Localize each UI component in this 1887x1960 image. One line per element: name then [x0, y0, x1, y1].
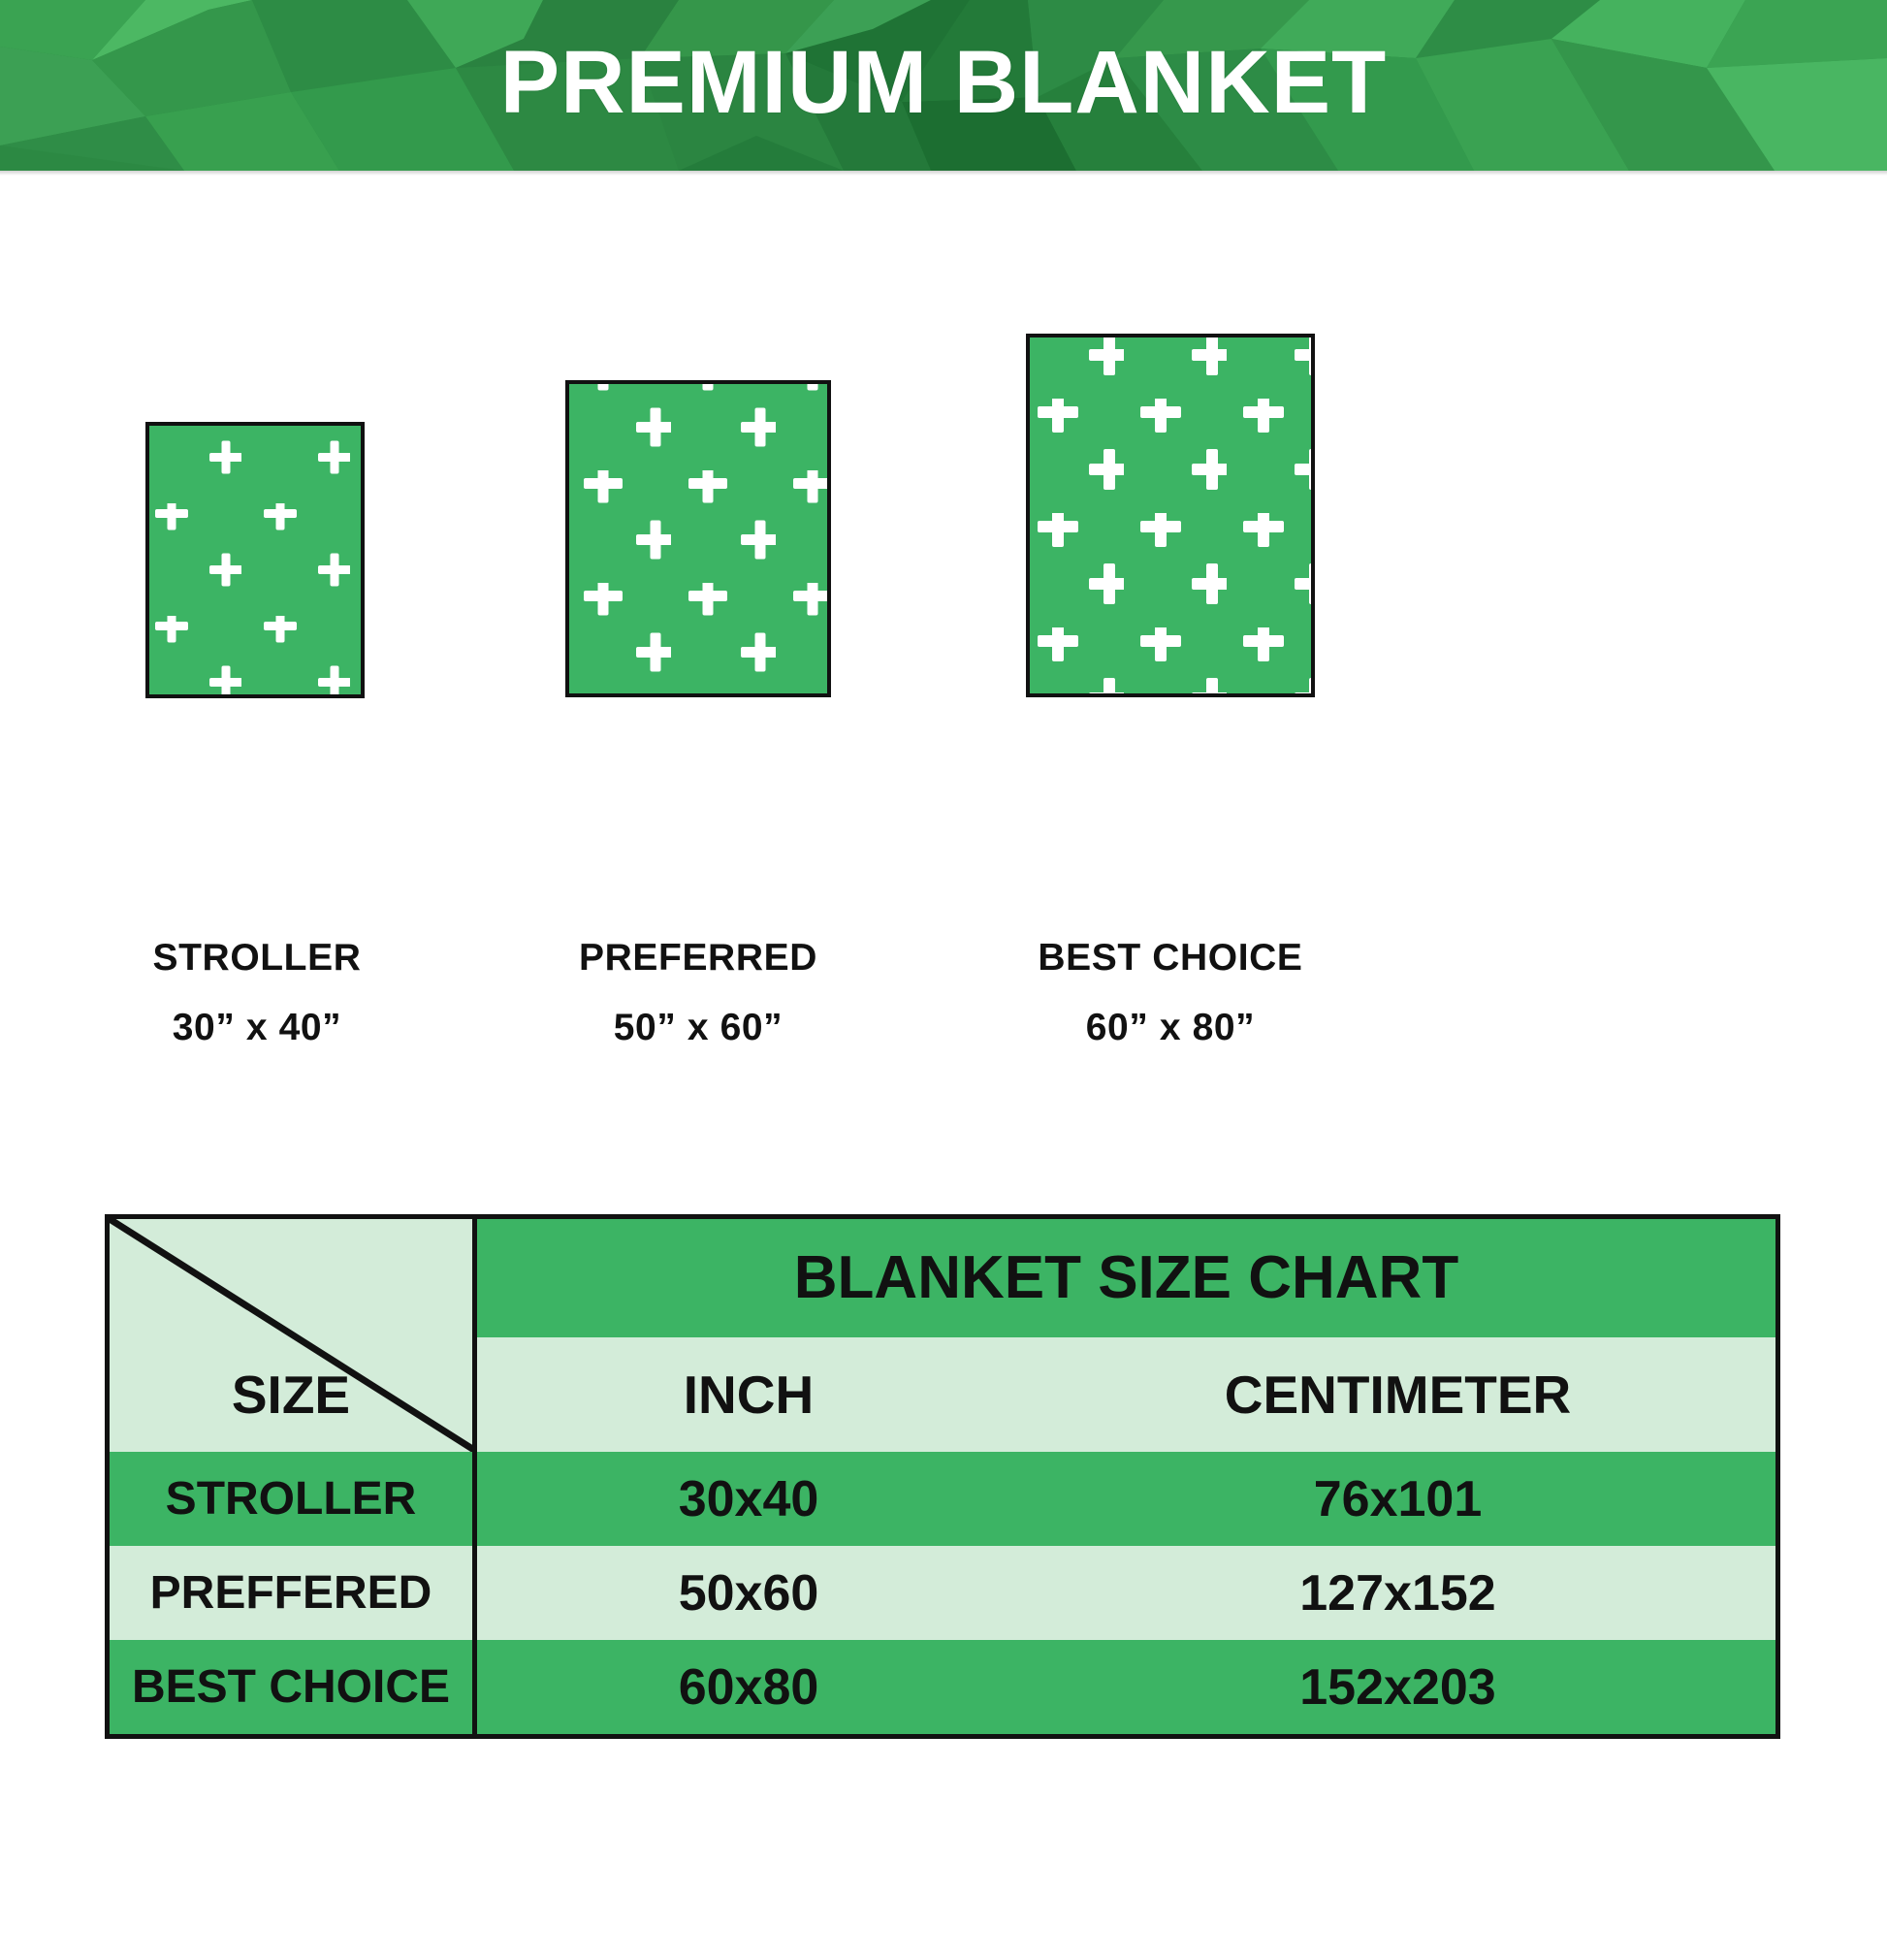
banner-drop-shadow [0, 171, 1887, 176]
illustration-label-best-choice: BEST CHOICE [962, 939, 1379, 977]
illustration-dimensions-stroller: 30” x 40” [48, 1009, 465, 1046]
header-banner: PREMIUM BLANKET [0, 0, 1887, 171]
table-column-divider [472, 1219, 477, 1734]
table-cell-inch: 50x60 [477, 1546, 1020, 1640]
table-header-centimeter: CENTIMETER [1020, 1337, 1775, 1452]
illustration-label-preferred: PREFERRED [490, 939, 907, 977]
blanket-size-chart-page: PREMIUM BLANKET [0, 0, 1887, 1960]
plus-pattern-swatch [145, 422, 365, 698]
table-row: BEST CHOICE [110, 1640, 472, 1734]
table-cell-centimeter: 127x152 [1020, 1546, 1775, 1640]
table-row: STROLLER [110, 1452, 472, 1546]
table-cell-inch: 60x80 [477, 1640, 1020, 1734]
table-cell-centimeter: 76x101 [1020, 1452, 1775, 1546]
table-title: BLANKET SIZE CHART [477, 1219, 1775, 1337]
illustration-dimensions-preferred: 50” x 60” [490, 1009, 907, 1046]
cross-pattern-graphic [149, 426, 365, 698]
plus-pattern-swatch [565, 380, 831, 697]
table-cell-inch: 30x40 [477, 1452, 1020, 1546]
plus-pattern-swatch [1026, 334, 1315, 697]
table-row: PREFFERED [110, 1546, 472, 1640]
illustration-dimensions-best-choice: 60” x 80” [962, 1009, 1379, 1046]
table-cell-centimeter: 152x203 [1020, 1640, 1775, 1734]
cross-pattern-graphic [569, 384, 831, 697]
table-header-inch: INCH [477, 1337, 1020, 1452]
table-header-size: SIZE [110, 1337, 472, 1452]
illustration-label-stroller: STROLLER [48, 939, 465, 977]
blanket-size-chart-table: BLANKET SIZE CHART SIZE INCH CENTIMETER … [105, 1214, 1780, 1739]
page-title: PREMIUM BLANKET [0, 0, 1887, 171]
cross-pattern-graphic [1030, 337, 1315, 697]
table-corner-upper [110, 1219, 472, 1337]
